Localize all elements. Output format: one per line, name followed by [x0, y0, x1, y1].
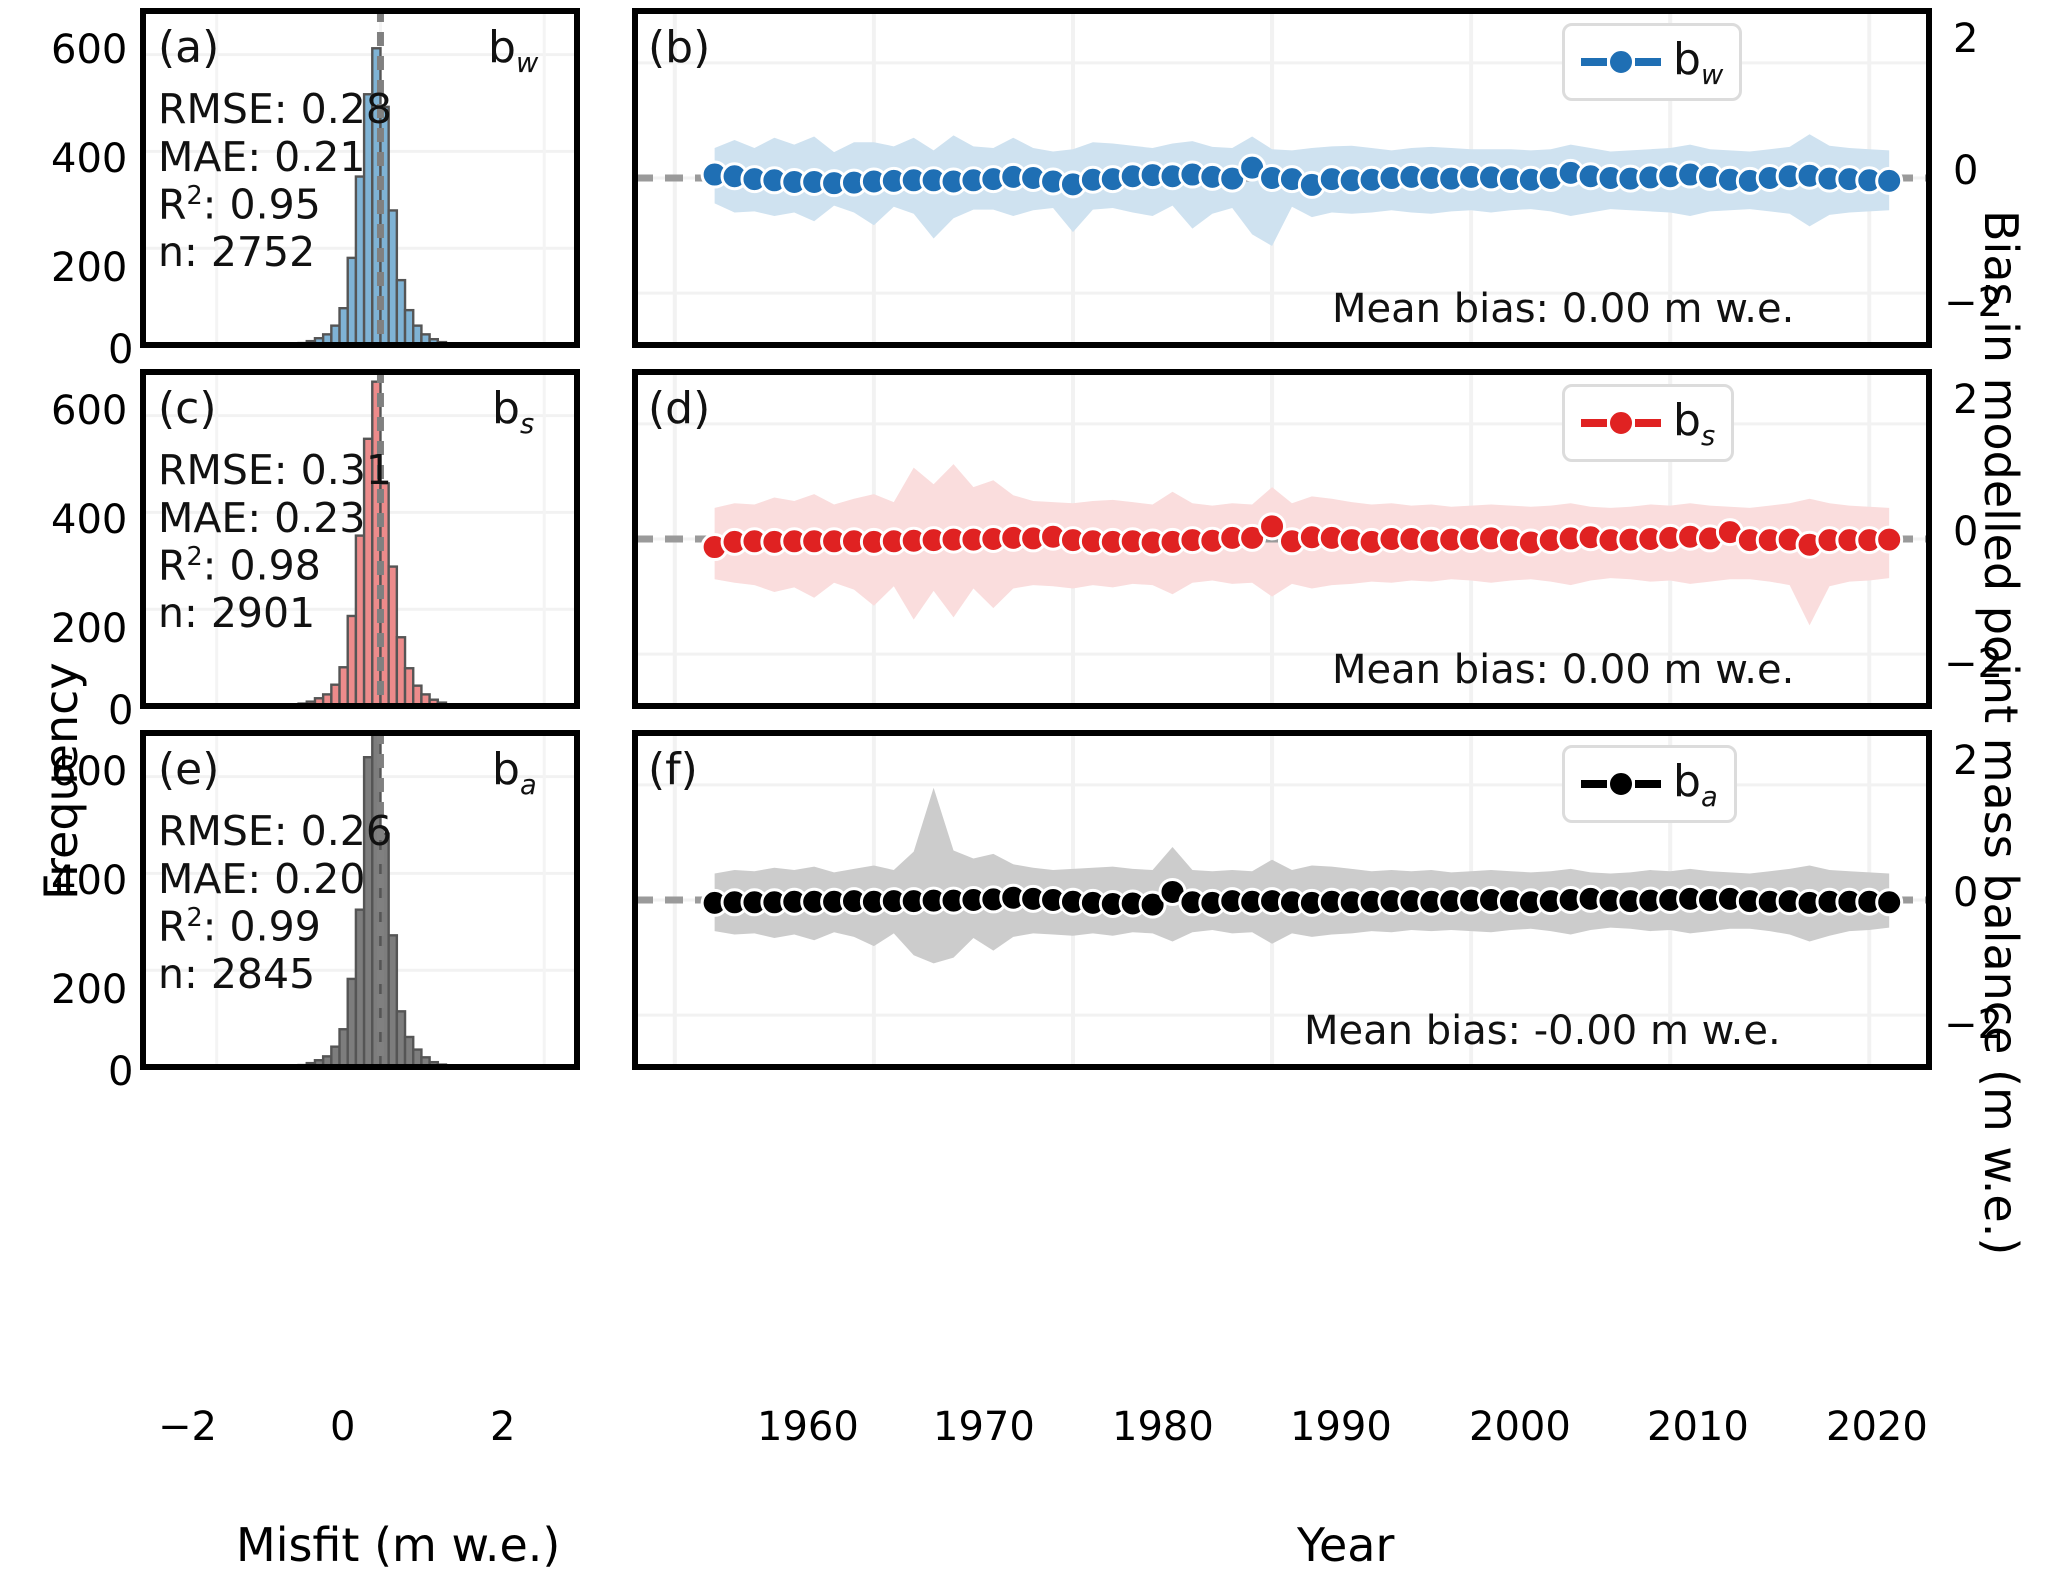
panel-d-mean-bias: Mean bias: 0.00 m w.e. — [1332, 647, 1794, 693]
tick-f-neg2: −2 — [1944, 1002, 2003, 1048]
panel-e-stat-rmse: RMSE: 0.26 — [158, 808, 392, 856]
tick-ts-x-1970: 1970 — [933, 1404, 1035, 1450]
tick-hist-x-neg2: −2 — [158, 1404, 217, 1450]
panel-a-series-b: b — [488, 22, 516, 73]
panel-d-legend[interactable]: bs — [1562, 384, 1734, 462]
panel-b-mean-bias: Mean bias: 0.00 m w.e. — [1332, 286, 1794, 332]
tick-a-200: 200 — [51, 245, 127, 291]
panel-e-stats: RMSE: 0.26 MAE: 0.20 R2: 0.99 n: 2845 — [158, 808, 392, 999]
panel-c-stat-r2: R2: 0.98 — [158, 542, 392, 590]
tick-ts-x-2010: 2010 — [1647, 1404, 1749, 1450]
panel-a: (a) bw RMSE: 0.28 MAE: 0.21 R2: 0.95 n: … — [140, 8, 580, 348]
x-axis-title-misfit: Misfit (m w.e.) — [236, 1518, 560, 1572]
panel-f-mean-bias: Mean bias: -0.00 m w.e. — [1304, 1008, 1781, 1054]
panel-f: (f) ba Mean bias: -0.00 m w.e. — [632, 730, 1932, 1070]
panel-a-series-sub: w — [516, 48, 538, 79]
legend-marker-b — [1607, 48, 1635, 76]
legend-line2-f — [1635, 780, 1661, 788]
panel-e-series-label: ba — [492, 744, 537, 801]
tick-ts-x-1960: 1960 — [757, 1404, 859, 1450]
tick-c-0: 0 — [108, 688, 133, 734]
tick-c-400: 400 — [51, 497, 127, 543]
tick-a-400: 400 — [51, 136, 127, 182]
panel-f-legend-label: ba — [1673, 756, 1718, 813]
tick-e-400: 400 — [51, 858, 127, 904]
legend-line-b — [1581, 58, 1607, 66]
panel-a-stat-r2: R2: 0.95 — [158, 181, 392, 229]
tick-e-200: 200 — [51, 967, 127, 1013]
legend-line2-d — [1635, 419, 1661, 427]
panel-d-legend-label: bs — [1673, 395, 1715, 452]
panel-e: (e) ba RMSE: 0.26 MAE: 0.20 R2: 0.99 n: … — [140, 730, 580, 1070]
panel-c-label: (c) — [158, 383, 217, 434]
panel-d-label: (d) — [648, 383, 710, 434]
tick-b-2: 2 — [1953, 16, 1978, 62]
tick-e-600: 600 — [51, 749, 127, 795]
panel-e-stat-r2: R2: 0.99 — [158, 903, 392, 951]
legend-marker-d — [1607, 409, 1635, 437]
tick-ts-x-1990: 1990 — [1290, 1404, 1392, 1450]
panel-b-legend-label: bw — [1673, 34, 1723, 91]
panel-e-series-sub: a — [520, 770, 537, 801]
panel-a-stats: RMSE: 0.28 MAE: 0.21 R2: 0.95 n: 2752 — [158, 86, 392, 277]
legend-line-d — [1581, 419, 1607, 427]
tick-d-0: 0 — [1953, 509, 1978, 555]
panel-a-stat-mae: MAE: 0.21 — [158, 134, 392, 182]
panel-a-label: (a) — [158, 22, 219, 73]
figure-root: Frequency Bias in modelled point mass ba… — [0, 0, 2067, 1587]
tick-ts-x-1980: 1980 — [1112, 1404, 1214, 1450]
panel-e-stat-n: n: 2845 — [158, 951, 392, 999]
panel-c: (c) bs RMSE: 0.31 MAE: 0.23 R2: 0.98 n: … — [140, 369, 580, 709]
tick-e-0: 0 — [108, 1049, 133, 1095]
legend-line2-b — [1635, 58, 1661, 66]
panel-c-stat-n: n: 2901 — [158, 590, 392, 638]
panel-b: (b) bw Mean bias: 0.00 m w.e. — [632, 8, 1932, 348]
tick-f-0: 0 — [1953, 870, 1978, 916]
tick-a-0: 0 — [108, 327, 133, 373]
legend-line-f — [1581, 780, 1607, 788]
tick-b-neg2: −2 — [1944, 280, 2003, 326]
panel-a-stat-rmse: RMSE: 0.28 — [158, 86, 392, 134]
tick-c-600: 600 — [51, 388, 127, 434]
panel-b-legend[interactable]: bw — [1562, 23, 1742, 101]
panel-e-stat-mae: MAE: 0.20 — [158, 856, 392, 904]
panel-a-stat-n: n: 2752 — [158, 229, 392, 277]
panel-d: (d) bs Mean bias: 0.00 m w.e. — [632, 369, 1932, 709]
tick-hist-x-2: 2 — [490, 1404, 515, 1450]
panel-e-label: (e) — [158, 744, 219, 795]
y-axis-title-bias: Bias in modelled point mass balance (m w… — [1974, 210, 2028, 1255]
tick-f-2: 2 — [1953, 738, 1978, 784]
tick-ts-x-2000: 2000 — [1469, 1404, 1571, 1450]
legend-marker-f — [1607, 770, 1635, 798]
panel-f-label: (f) — [648, 744, 698, 795]
panel-c-series-sub: s — [520, 409, 534, 440]
tick-d-2: 2 — [1953, 377, 1978, 423]
panel-c-series-b: b — [492, 383, 520, 434]
tick-b-0: 0 — [1953, 148, 1978, 194]
tick-d-neg2: −2 — [1944, 641, 2003, 687]
tick-c-200: 200 — [51, 606, 127, 652]
tick-a-600: 600 — [51, 27, 127, 73]
panel-e-series-b: b — [492, 744, 520, 795]
panel-a-series-label: bw — [488, 22, 538, 79]
tick-ts-x-2020: 2020 — [1826, 1404, 1928, 1450]
tick-hist-x-0: 0 — [330, 1404, 355, 1450]
panel-c-stats: RMSE: 0.31 MAE: 0.23 R2: 0.98 n: 2901 — [158, 447, 392, 638]
panel-c-stat-mae: MAE: 0.23 — [158, 495, 392, 543]
x-axis-title-year: Year — [1297, 1518, 1394, 1572]
panel-f-legend[interactable]: ba — [1562, 745, 1737, 823]
panel-b-label: (b) — [648, 22, 710, 73]
panel-c-series-label: bs — [492, 383, 534, 440]
panel-c-stat-rmse: RMSE: 0.31 — [158, 447, 392, 495]
